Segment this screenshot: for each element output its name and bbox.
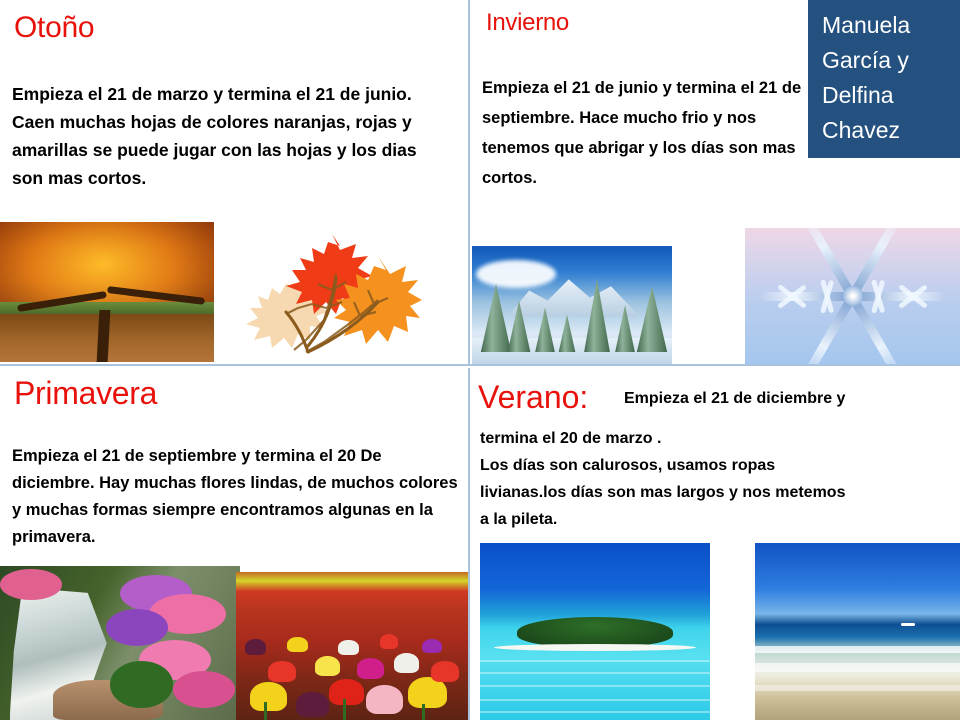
tulip <box>250 682 287 712</box>
beach-waves-photo <box>755 543 960 720</box>
author-line: Delfina <box>822 78 960 113</box>
tulip-stem <box>264 702 267 720</box>
snow-cloud <box>476 260 556 288</box>
snowflake-photo <box>745 228 960 364</box>
autumn-tree-photo <box>0 222 214 362</box>
snowflake-center <box>843 286 863 306</box>
vertical-divider-bottom <box>468 368 470 720</box>
water-ripple <box>480 660 710 662</box>
tulip-stem <box>343 699 346 720</box>
water-ripple <box>480 699 710 701</box>
author-line: García y <box>822 43 960 78</box>
tulip <box>329 679 364 706</box>
water-ripple <box>480 672 710 674</box>
maple-leaves-clipart <box>228 228 423 358</box>
primavera-heading: Primavera <box>14 375 157 412</box>
seasons-poster-slide: Otoño Empieza el 21 de marzo y termina e… <box>0 0 960 720</box>
wave-foam <box>755 663 960 672</box>
maple-leaves-svg <box>228 228 423 358</box>
primavera-body-text: Empieza el 21 de septiembre y termina el… <box>12 443 462 551</box>
verano-body-text: termina el 20 de marzo . Los días son ca… <box>480 425 950 533</box>
tulip <box>394 653 420 672</box>
tulip <box>357 658 385 679</box>
waterfall-flowers-photo <box>0 566 240 720</box>
tulip <box>431 661 459 682</box>
tropical-island-photo <box>480 543 710 720</box>
otono-body-text: Empieza el 21 de marzo y termina el 21 d… <box>12 80 432 192</box>
author-name-box: Manuela García y Delfina Chavez <box>808 0 960 158</box>
tulip <box>380 634 399 649</box>
otono-heading: Otoño <box>14 11 94 45</box>
water-ripple <box>480 711 710 713</box>
wave-foam <box>755 685 960 691</box>
invierno-heading: Invierno <box>486 9 569 37</box>
tulip <box>366 685 403 715</box>
verano-body-line: a la pileta. <box>480 506 950 533</box>
verano-body-line: livianas.los días son mas largos y nos m… <box>480 479 950 506</box>
tulip <box>422 639 443 654</box>
tulip <box>408 677 447 708</box>
tulip <box>338 640 359 655</box>
vertical-divider-top <box>468 0 470 365</box>
tulip <box>315 656 341 675</box>
invierno-body-text: Empieza el 21 de junio y termina el 21 d… <box>482 73 802 193</box>
verano-body-line: termina el 20 de marzo . <box>480 425 950 452</box>
author-line: Manuela <box>822 8 960 43</box>
verano-heading: Verano: <box>478 379 588 416</box>
snowy-forest-photo <box>472 246 672 364</box>
spring-flower-cluster <box>106 609 168 646</box>
spring-flower-cluster <box>173 671 235 708</box>
spring-flower-cluster <box>0 569 62 600</box>
water-ripple <box>480 685 710 687</box>
author-line: Chavez <box>822 113 960 148</box>
tulip <box>296 692 328 717</box>
tulip <box>245 639 266 655</box>
verano-lead-text: Empieza el 21 de diciembre y <box>624 390 845 408</box>
tulip <box>287 637 308 652</box>
tulip <box>268 661 296 682</box>
verano-body-line: Los días son calurosos, usamos ropas <box>480 452 950 479</box>
distant-boat <box>901 623 915 626</box>
tulip-stem <box>422 704 425 720</box>
island-palm-cluster <box>517 617 673 647</box>
tulip-field-photo <box>236 572 468 720</box>
island-sand-bar <box>494 644 696 651</box>
horizontal-divider <box>0 364 960 366</box>
spring-foliage <box>110 661 172 707</box>
wave-foam <box>755 646 960 653</box>
